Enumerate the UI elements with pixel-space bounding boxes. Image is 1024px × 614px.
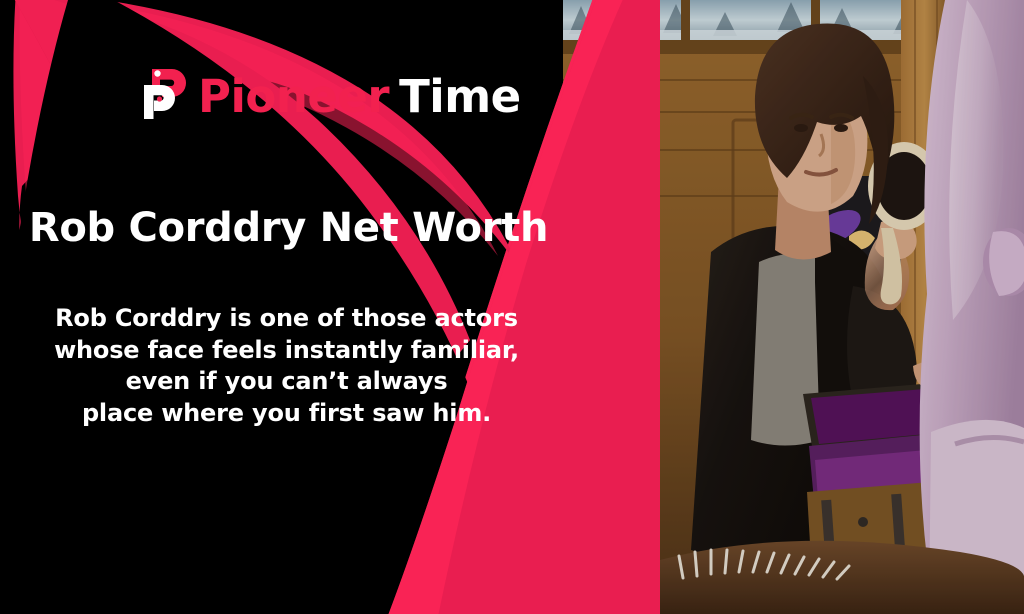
page-title: Rob Corddry Net Worth: [0, 206, 563, 250]
description-text: Rob Corddry is one of those actors whose…: [0, 303, 563, 430]
description-line-3: even if you can’t always: [36, 366, 537, 398]
brand-logo[interactable]: PioneerTime: [136, 63, 521, 129]
text-panel: PioneerTime Rob Corddry Net Worth Rob Co…: [0, 0, 563, 614]
brand-wordmark: PioneerTime: [198, 74, 521, 119]
promo-banner: PioneerTime Rob Corddry Net Worth Rob Co…: [0, 0, 1024, 614]
description-line-4: place where you first saw him.: [36, 398, 537, 430]
lodge-scene-right: [660, 0, 1024, 614]
brand-word-time: Time: [399, 70, 521, 123]
hero-photo-overlay: [660, 0, 1024, 614]
description-line-2: whose face feels instantly familiar,: [36, 335, 537, 367]
pioneer-p-monogram-icon: [136, 63, 192, 129]
description-line-1: Rob Corddry is one of those actors: [36, 303, 537, 335]
brand-word-pioneer: Pioneer: [198, 70, 389, 123]
